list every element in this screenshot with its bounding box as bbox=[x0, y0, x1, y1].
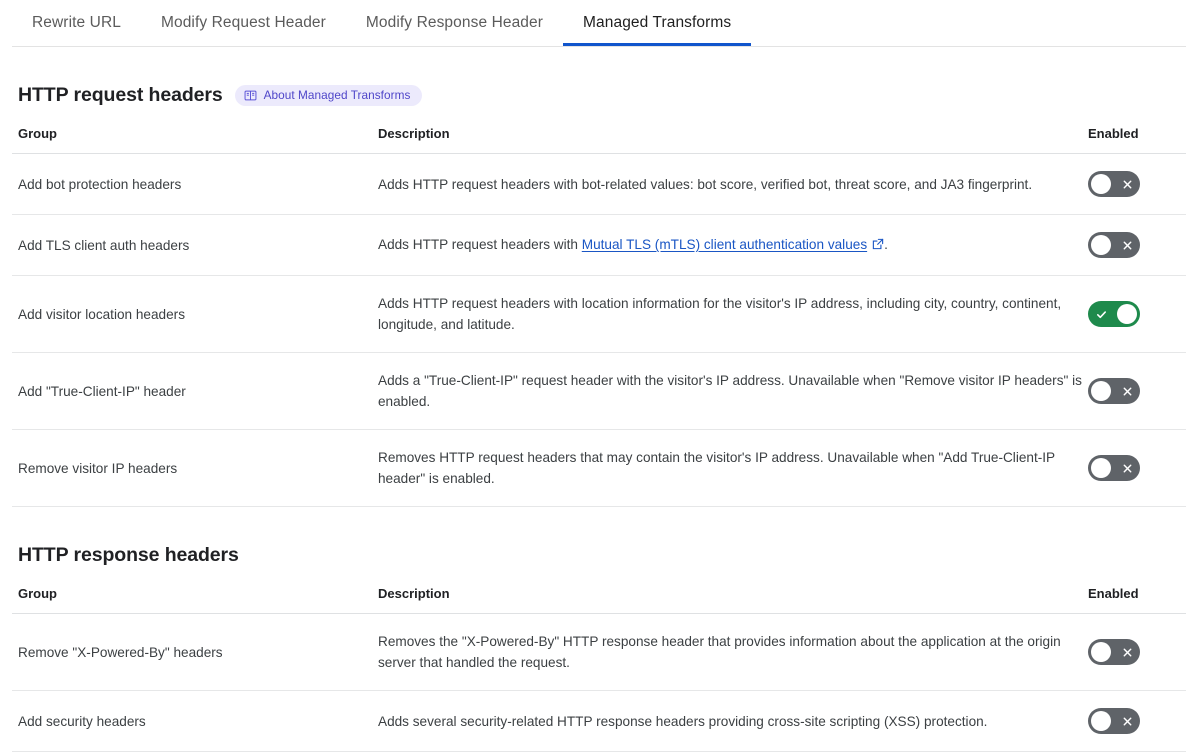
toggle-knob bbox=[1117, 304, 1137, 324]
toggle-remove-visitor-ip-headers[interactable] bbox=[1088, 455, 1140, 481]
toggle-add-visitor-location-headers[interactable] bbox=[1088, 301, 1140, 327]
toggle-add-bot-protection-headers[interactable] bbox=[1088, 171, 1140, 197]
table-header-row: Group Description Enabled bbox=[12, 121, 1186, 154]
check-icon bbox=[1088, 301, 1114, 327]
toggle-add-true-client-ip-header[interactable] bbox=[1088, 378, 1140, 404]
column-header-group: Group bbox=[12, 581, 372, 614]
column-header-enabled: Enabled bbox=[1082, 121, 1186, 154]
badge-label: About Managed Transforms bbox=[264, 88, 411, 103]
toggle-knob bbox=[1091, 642, 1111, 662]
row-group-label: Add security headers bbox=[12, 691, 372, 752]
column-header-description: Description bbox=[372, 581, 1082, 614]
close-icon bbox=[1114, 171, 1140, 197]
toggle-knob bbox=[1091, 711, 1111, 731]
table-row: Add "True-Client-IP" header Adds a "True… bbox=[12, 353, 1186, 430]
row-group-label: Add "True-Client-IP" header bbox=[12, 353, 372, 430]
row-group-label: Remove visitor IP headers bbox=[12, 430, 372, 507]
row-enabled-cell bbox=[1082, 614, 1186, 691]
close-icon bbox=[1114, 708, 1140, 734]
close-icon bbox=[1114, 455, 1140, 481]
row-description: Adds HTTP request headers with location … bbox=[372, 276, 1082, 353]
section-header: HTTP response headers bbox=[12, 507, 1186, 581]
row-group-label: Add bot protection headers bbox=[12, 154, 372, 215]
tab-rewrite-url[interactable]: Rewrite URL bbox=[12, 2, 141, 46]
external-link-icon[interactable] bbox=[872, 235, 884, 256]
table-row: Add bot protection headers Adds HTTP req… bbox=[12, 154, 1186, 215]
mtls-docs-link[interactable]: Mutual TLS (mTLS) client authentication … bbox=[582, 237, 867, 252]
row-description: Removes HTTP request headers that may co… bbox=[372, 430, 1082, 507]
toggle-remove-x-powered-by-headers[interactable] bbox=[1088, 639, 1140, 665]
row-description: Adds a "True-Client-IP" request header w… bbox=[372, 353, 1082, 430]
tab-modify-response-header[interactable]: Modify Response Header bbox=[346, 2, 563, 46]
request-headers-table: Group Description Enabled Add bot protec… bbox=[12, 121, 1186, 507]
row-enabled-cell bbox=[1082, 154, 1186, 215]
toggle-add-tls-client-auth-headers[interactable] bbox=[1088, 232, 1140, 258]
description-text-after: . bbox=[884, 237, 888, 252]
table-row: Add TLS client auth headers Adds HTTP re… bbox=[12, 215, 1186, 276]
row-enabled-cell bbox=[1082, 215, 1186, 276]
column-header-description: Description bbox=[372, 121, 1082, 154]
toggle-knob bbox=[1091, 235, 1111, 255]
table-row: Add visitor location headers Adds HTTP r… bbox=[12, 276, 1186, 353]
row-description: Removes the "X-Powered-By" HTTP response… bbox=[372, 614, 1082, 691]
section-http-request-headers: HTTP request headers About Managed Trans… bbox=[12, 47, 1186, 507]
section-title: HTTP response headers bbox=[18, 543, 239, 567]
row-description: Adds HTTP request headers with Mutual TL… bbox=[372, 215, 1082, 276]
response-headers-table: Group Description Enabled Remove "X-Powe… bbox=[12, 581, 1186, 752]
section-http-response-headers: HTTP response headers Group Description … bbox=[12, 507, 1186, 752]
row-group-label: Remove "X-Powered-By" headers bbox=[12, 614, 372, 691]
tab-modify-request-header[interactable]: Modify Request Header bbox=[141, 2, 346, 46]
section-header: HTTP request headers About Managed Trans… bbox=[12, 47, 1186, 121]
table-row: Remove "X-Powered-By" headers Removes th… bbox=[12, 614, 1186, 691]
row-group-label: Add visitor location headers bbox=[12, 276, 372, 353]
row-enabled-cell bbox=[1082, 430, 1186, 507]
toggle-add-security-headers[interactable] bbox=[1088, 708, 1140, 734]
row-enabled-cell bbox=[1082, 276, 1186, 353]
table-header-row: Group Description Enabled bbox=[12, 581, 1186, 614]
book-icon bbox=[244, 89, 257, 102]
close-icon bbox=[1114, 232, 1140, 258]
table-row: Remove visitor IP headers Removes HTTP r… bbox=[12, 430, 1186, 507]
toggle-knob bbox=[1091, 458, 1111, 478]
row-description: Adds HTTP request headers with bot-relat… bbox=[372, 154, 1082, 215]
column-header-group: Group bbox=[12, 121, 372, 154]
transform-rules-tabbar: Rewrite URL Modify Request Header Modify… bbox=[12, 0, 1186, 47]
close-icon bbox=[1114, 378, 1140, 404]
row-description: Adds several security-related HTTP respo… bbox=[372, 691, 1082, 752]
page-title: HTTP request headers bbox=[18, 83, 223, 107]
close-icon bbox=[1114, 639, 1140, 665]
description-text-before: Adds HTTP request headers with bbox=[378, 237, 582, 252]
table-row: Add security headers Adds several securi… bbox=[12, 691, 1186, 752]
tab-managed-transforms[interactable]: Managed Transforms bbox=[563, 2, 751, 46]
row-enabled-cell bbox=[1082, 353, 1186, 430]
about-managed-transforms-badge[interactable]: About Managed Transforms bbox=[235, 85, 423, 106]
column-header-enabled: Enabled bbox=[1082, 581, 1186, 614]
row-enabled-cell bbox=[1082, 691, 1186, 752]
row-group-label: Add TLS client auth headers bbox=[12, 215, 372, 276]
toggle-knob bbox=[1091, 381, 1111, 401]
toggle-knob bbox=[1091, 174, 1111, 194]
